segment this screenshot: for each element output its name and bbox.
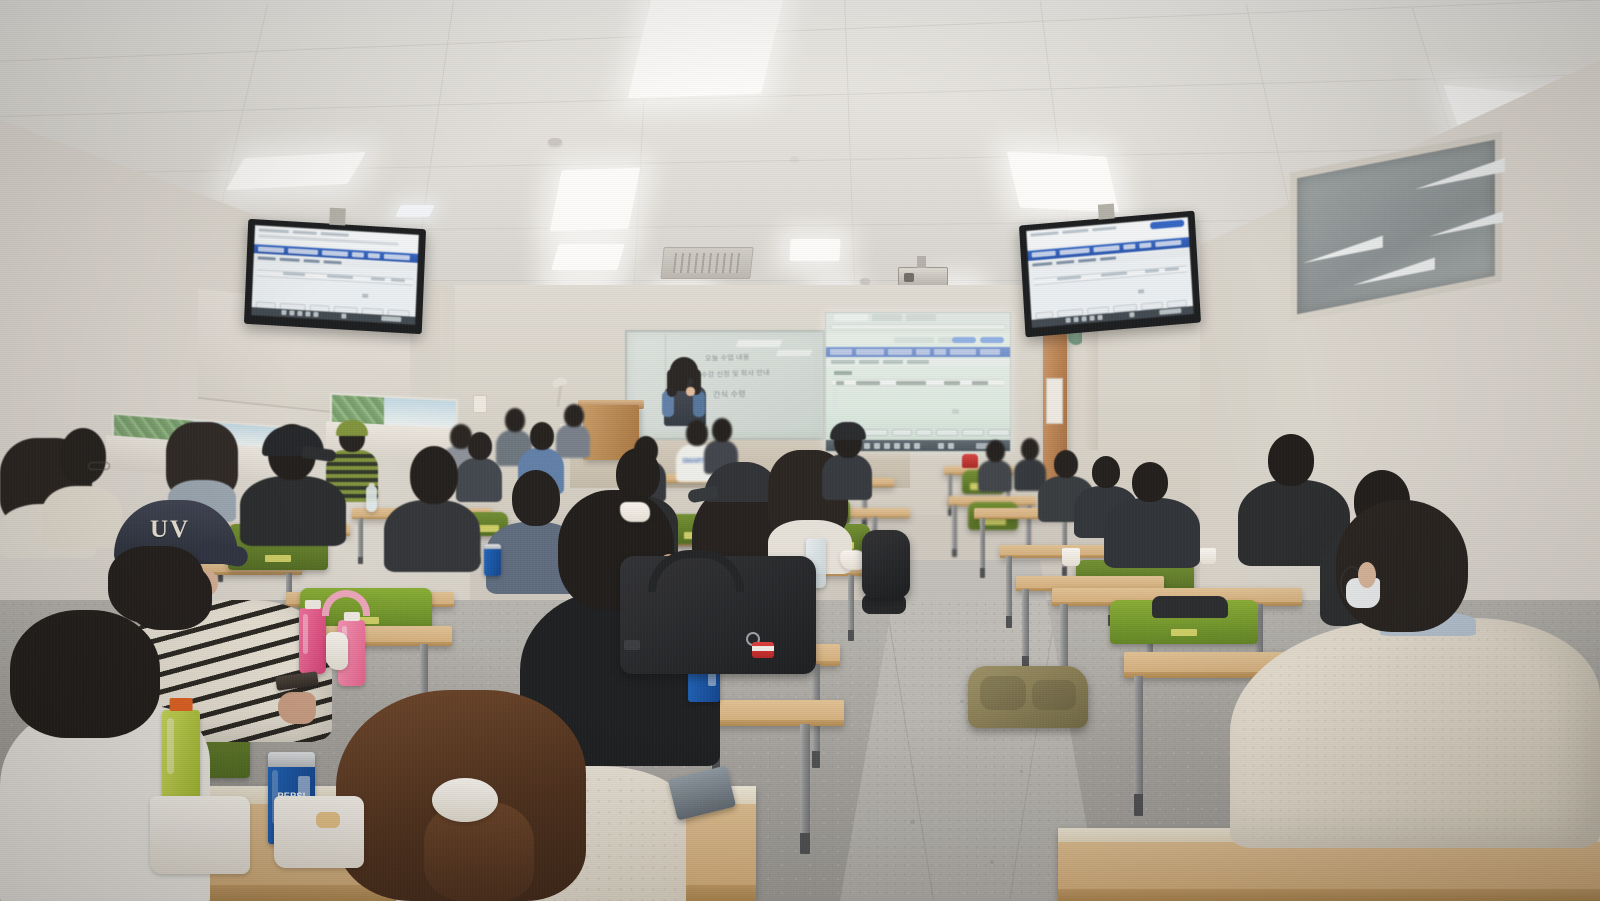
glasses-icon xyxy=(88,462,110,470)
backpack-olive xyxy=(968,666,1088,728)
smoke-detector-icon xyxy=(860,278,870,284)
desk-leg xyxy=(800,724,810,854)
pink-drink-bottle xyxy=(299,608,326,674)
section-heading xyxy=(834,371,852,375)
browser-address-bar[interactable] xyxy=(830,324,1006,330)
tv-mount-right xyxy=(1098,203,1115,219)
backpack-buckle xyxy=(624,640,640,650)
table-side-rail xyxy=(832,389,838,415)
hand xyxy=(278,692,316,724)
browser-chrome xyxy=(826,313,1010,333)
green-drink-bottle xyxy=(162,710,200,802)
snack-napkin xyxy=(620,502,650,522)
desk-leg xyxy=(1006,556,1012,628)
browser-sub-bar[interactable] xyxy=(826,359,1010,366)
student-ponytail xyxy=(336,690,686,901)
presenter-hair xyxy=(670,357,698,391)
desk-leg xyxy=(1022,589,1029,669)
ceiling-light-panel xyxy=(789,239,840,261)
snack-napkin xyxy=(274,796,364,868)
paper-cup xyxy=(1062,548,1080,566)
smoke-detector-icon xyxy=(548,138,562,145)
desk-leg xyxy=(358,518,363,564)
student-head xyxy=(10,610,160,738)
whiteboard-line: 간식 수령 xyxy=(713,389,746,399)
cap-black xyxy=(830,422,866,440)
tv-screen-left xyxy=(251,225,419,325)
browser-tab-bar xyxy=(828,314,1008,322)
jacket-on-chair xyxy=(1152,596,1228,618)
paper-cup xyxy=(1200,548,1216,564)
browser-toolbar xyxy=(830,336,1006,345)
backpack-strap xyxy=(648,550,744,592)
tv-monitor-left xyxy=(244,219,426,334)
keychain-white-band xyxy=(752,646,774,651)
knit-texture xyxy=(1240,626,1590,840)
backpack-black xyxy=(620,556,816,674)
student xyxy=(384,446,480,566)
chair-tag xyxy=(1171,629,1197,636)
desk-leg xyxy=(952,505,957,557)
ear xyxy=(1358,562,1376,588)
ceiling-light-panel xyxy=(550,168,641,232)
lecture-hall-photograph: 오늘 수업 내용 수강 신청 및 학사 안내 간식 수령 xyxy=(0,0,1600,901)
browser-nav-bar[interactable] xyxy=(826,347,1010,357)
scrunchie xyxy=(432,778,498,822)
desk-leg xyxy=(848,575,854,641)
cursor-icon xyxy=(952,409,959,414)
ceiling-light-panel xyxy=(551,244,624,270)
wall-notice xyxy=(1046,378,1063,424)
snack-crumb xyxy=(316,812,340,828)
cap-uv-text: UV xyxy=(150,516,220,544)
tv-mount-left xyxy=(329,208,346,226)
presenter-hand xyxy=(686,387,695,396)
snack-napkin xyxy=(326,632,348,670)
snack-napkin xyxy=(150,796,250,874)
smoke-detector-icon xyxy=(790,156,799,161)
ceiling-ac-vent xyxy=(660,247,753,279)
student xyxy=(240,424,346,534)
desk-leg xyxy=(1134,676,1143,816)
bag-dark xyxy=(862,530,910,598)
student-knit-sweater xyxy=(1230,500,1600,840)
tv-monitor-right xyxy=(1019,211,1201,338)
presenter xyxy=(660,357,712,425)
student xyxy=(822,424,872,494)
table-header-row xyxy=(832,379,1004,386)
tv-screen-right xyxy=(1026,217,1193,328)
wall-outlet xyxy=(473,395,487,413)
pepsi-can xyxy=(484,544,501,576)
red-item xyxy=(962,454,978,468)
ceiling-light-panel xyxy=(395,205,435,217)
student xyxy=(1104,462,1200,564)
desk-leg xyxy=(980,518,985,578)
student xyxy=(978,440,1012,488)
water-bottle xyxy=(366,486,377,512)
